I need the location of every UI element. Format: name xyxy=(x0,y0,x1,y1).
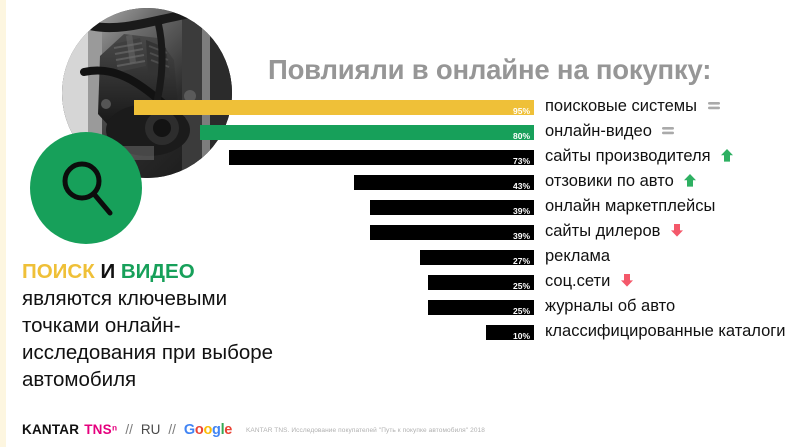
bar-category-label: онлайн-видео xyxy=(545,121,675,142)
lead-body-text: являются ключевыми точками онлайн-исслед… xyxy=(22,287,273,391)
bar-category-text: сайты производителя xyxy=(545,147,711,165)
bar-value-label: 39% xyxy=(513,205,530,218)
bar-value-label: 73% xyxy=(513,155,530,168)
footer-separator-2: // xyxy=(168,422,176,437)
region-label: RU xyxy=(141,422,161,437)
bar-category-label: сайты дилеров xyxy=(545,221,684,242)
bar-fill: 39% xyxy=(370,200,534,215)
bar-value-label: 25% xyxy=(513,305,530,318)
tns-logo: TNSⁿ xyxy=(84,422,117,437)
google-logo: Google xyxy=(184,422,232,438)
bar-category-text: сайты дилеров xyxy=(545,222,660,240)
bar-fill: 39% xyxy=(370,225,534,240)
source-attribution: KANTAR TNS. Исследование покупателей "Пу… xyxy=(246,427,485,434)
lead-paragraph: ПОИСК И ВИДЕО являются ключевыми точками… xyxy=(22,258,282,393)
bar-fill: 73% xyxy=(229,150,534,165)
kantar-logo: KANTAR xyxy=(22,422,79,437)
bar-category-text: отзовики по авто xyxy=(545,172,674,190)
trend-down-icon xyxy=(670,223,684,238)
bar-category-text: реклама xyxy=(545,247,610,265)
bar-track: 43% xyxy=(0,171,534,196)
bar-value-label: 39% xyxy=(513,230,530,243)
bar-value-label: 43% xyxy=(513,180,530,193)
table-row: 95% поисковые системы xyxy=(0,96,794,121)
bar-fill: 25% xyxy=(428,300,534,315)
table-row: 80% онлайн-видео xyxy=(0,121,794,146)
bar-category-label: классифицированные каталоги xyxy=(545,321,790,342)
bar-value-label: 25% xyxy=(513,280,530,293)
bar-track: 95% xyxy=(0,96,534,121)
bar-category-text: онлайн-видео xyxy=(545,122,652,140)
bar-category-text: соц.сети xyxy=(545,272,610,290)
slide-canvas: Повлияли в онлайне на покупку: 95% поиск… xyxy=(0,0,794,447)
keyword-and: И xyxy=(100,260,115,283)
trend-down-icon xyxy=(620,273,634,288)
tns-logo-text: TNS xyxy=(84,422,112,437)
bar-track: 39% xyxy=(0,196,534,221)
bar-track: 73% xyxy=(0,146,534,171)
page-title: Повлияли в онлайне на покупку: xyxy=(268,54,711,86)
bar-fill: 43% xyxy=(354,175,534,190)
footer-logos: KANTAR TNSⁿ // RU // Google xyxy=(22,422,232,438)
bar-value-label: 27% xyxy=(513,255,530,268)
bar-category-text: онлайн маркетплейсы xyxy=(545,197,715,215)
bar-value-label: 95% xyxy=(513,105,530,118)
table-row: 39% сайты дилеров xyxy=(0,221,794,246)
bar-category-text: классифицированные каталоги xyxy=(545,322,786,340)
trend-up-icon xyxy=(720,148,734,163)
bar-fill: 80% xyxy=(200,125,534,140)
bar-fill: 10% xyxy=(486,325,534,340)
bar-category-label: сайты производителя xyxy=(545,146,734,167)
trend-flat-icon xyxy=(661,123,675,138)
bar-track: 39% xyxy=(0,221,534,246)
trend-flat-icon xyxy=(707,98,721,113)
bar-track: 80% xyxy=(0,121,534,146)
bar-category-label: журналы об авто xyxy=(545,296,675,317)
bar-category-label: поисковые системы xyxy=(545,96,721,117)
table-row: 39% онлайн маркетплейсы xyxy=(0,196,794,221)
keyword-search: ПОИСК xyxy=(22,260,95,283)
bar-category-text: журналы об авто xyxy=(545,297,675,315)
bar-value-label: 10% xyxy=(513,330,530,343)
bar-fill: 27% xyxy=(420,250,534,265)
bar-fill: 95% xyxy=(134,100,534,115)
bar-category-label: отзовики по авто xyxy=(545,171,697,192)
bar-category-text: поисковые системы xyxy=(545,97,697,115)
keyword-video: ВИДЕО xyxy=(121,260,195,283)
footer-separator-1: // xyxy=(125,422,133,437)
table-row: 73% сайты производителя xyxy=(0,146,794,171)
bar-fill: 25% xyxy=(428,275,534,290)
tns-logo-mark: ⁿ xyxy=(112,422,118,437)
bar-category-label: онлайн маркетплейсы xyxy=(545,196,715,217)
bar-category-label: реклама xyxy=(545,246,610,267)
trend-up-icon xyxy=(683,173,697,188)
table-row: 43% отзовики по авто xyxy=(0,171,794,196)
bar-value-label: 80% xyxy=(513,130,530,143)
bar-category-label: соц.сети xyxy=(545,271,634,292)
